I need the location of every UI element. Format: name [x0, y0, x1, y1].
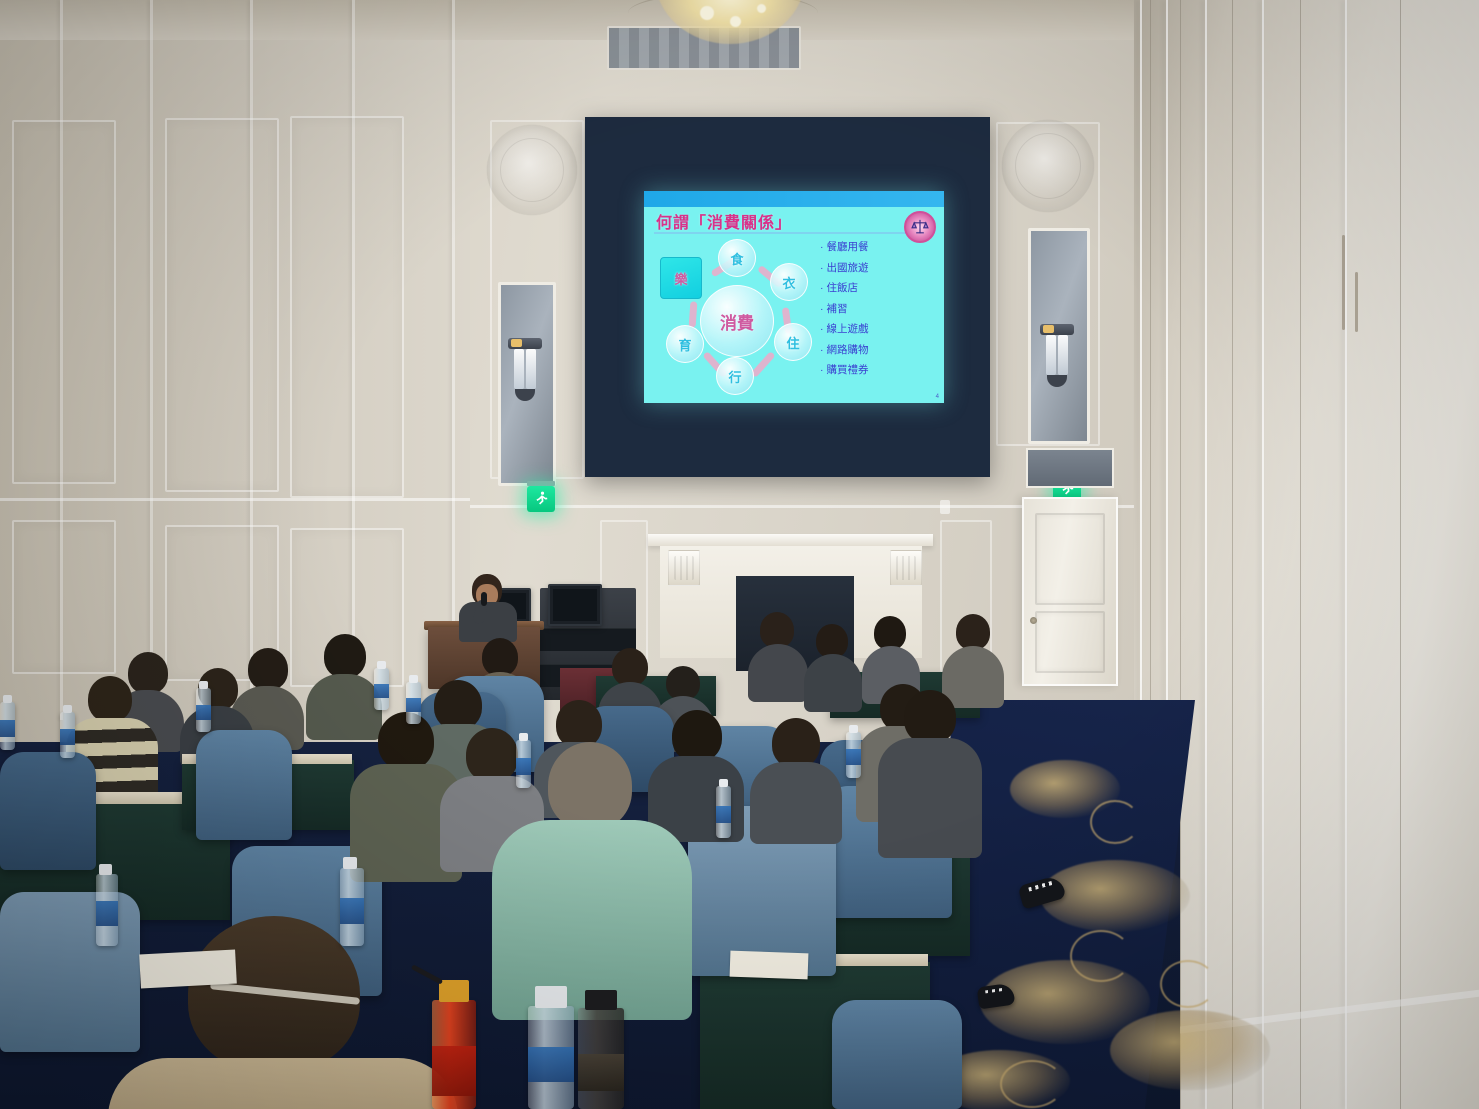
sconce-tube — [526, 349, 536, 389]
bottle-cap — [377, 661, 386, 669]
wall-sconce — [508, 338, 542, 402]
bottle-cap — [519, 733, 528, 741]
wall-pilaster — [150, 0, 153, 730]
water-bottle[interactable] — [196, 688, 211, 732]
sconce-tube — [1046, 335, 1056, 375]
diagram-node-top: 食 — [718, 239, 756, 277]
diagram-node-top-right: 衣 — [770, 263, 808, 301]
wall-pilaster — [1345, 0, 1347, 1109]
wall-pilaster — [1232, 0, 1233, 1109]
running-man-icon — [532, 490, 550, 508]
bottle-cap — [719, 779, 728, 787]
attendee-head — [956, 614, 990, 650]
attendee-head — [760, 612, 794, 648]
diagram-node-label: 樂 — [674, 269, 687, 288]
bottle-label — [432, 1046, 476, 1096]
slide-bullet-list: 餐廳用餐 出國旅遊 住飯店 補習 線上遊戲 網路購物 購買禮券 — [820, 237, 938, 381]
carpet-swirl — [1070, 930, 1132, 982]
carpet-swirl — [1160, 960, 1216, 1008]
slide-title-underline — [654, 232, 932, 234]
attendee-head — [816, 624, 848, 658]
bottle-label — [340, 898, 364, 925]
water-bottle[interactable] — [716, 786, 731, 838]
bottle-cap — [199, 681, 208, 689]
attendee-head — [666, 666, 700, 700]
notepad[interactable] — [730, 951, 809, 980]
attendee-torso — [942, 646, 1004, 708]
banquet-chair[interactable] — [0, 752, 96, 870]
ceiling — [0, 0, 1160, 40]
carpet-swirl — [1000, 1060, 1064, 1108]
attendee-head — [772, 718, 820, 768]
list-item: 網路購物 — [820, 340, 938, 361]
attendee-head — [324, 634, 366, 678]
carpet-swirl — [1090, 800, 1140, 844]
list-item: 購買禮券 — [820, 360, 938, 381]
bottle-cap — [439, 980, 469, 1002]
attendee-torso — [306, 674, 382, 740]
side-door[interactable] — [1022, 497, 1118, 686]
scales-icon — [910, 217, 930, 237]
chandelier-sparkle — [700, 6, 714, 20]
attendee-head — [248, 648, 288, 690]
diagram-link — [689, 301, 698, 327]
water-bottle[interactable] — [374, 668, 389, 710]
sconce-tube — [514, 349, 524, 389]
carpet-motif — [1110, 1010, 1270, 1090]
bottle-label — [96, 901, 118, 925]
exit-sign — [527, 486, 555, 512]
bottle-label — [374, 684, 389, 698]
attendee-head — [434, 680, 482, 730]
presentation-slide: 何謂「消費關係」 消費 — [644, 191, 944, 403]
diagram-node-label: 衣 — [782, 273, 795, 292]
mantel-shelf — [648, 534, 933, 546]
ceiling-rosette — [487, 125, 577, 215]
wall-panel — [165, 118, 279, 492]
attendee-torso — [748, 644, 808, 702]
charcoal-water-bottle[interactable] — [578, 1008, 624, 1109]
water-bottle[interactable] — [0, 702, 15, 750]
attendee-head — [548, 742, 632, 830]
wall-sconce — [1040, 324, 1074, 388]
bottle-label — [578, 1054, 624, 1090]
attendee-head — [612, 648, 648, 686]
bottle-label — [528, 1047, 574, 1082]
bottle-label — [716, 806, 731, 824]
chandelier-sparkle — [757, 4, 766, 13]
banquet-chair[interactable] — [832, 1000, 962, 1109]
bottle-label — [406, 698, 421, 712]
diagram-node-bottom: 行 — [716, 357, 754, 395]
sconce-base — [1047, 375, 1067, 387]
bottle-cap — [3, 695, 12, 703]
water-bottle[interactable] — [96, 874, 118, 946]
bottle-cap — [63, 705, 72, 713]
wainscot-molding — [0, 498, 470, 501]
door-handle[interactable] — [1342, 235, 1345, 330]
wall-panel — [290, 116, 404, 498]
water-bottle[interactable] — [340, 868, 364, 946]
slide-page-number: 4 — [936, 394, 939, 400]
list-item: 出國旅遊 — [820, 258, 938, 279]
presenter-torso — [459, 602, 517, 642]
attendee-head — [874, 616, 906, 650]
water-bottle[interactable] — [60, 712, 75, 758]
bottle-cap — [343, 857, 357, 869]
wall-pilaster — [1180, 0, 1181, 1109]
door-handle[interactable] — [1355, 272, 1358, 332]
bottle-label — [196, 705, 211, 720]
attendee-head — [466, 728, 518, 782]
wall-pilaster — [1300, 0, 1301, 1109]
list-item: 補習 — [820, 299, 938, 320]
banquet-chair[interactable] — [0, 892, 140, 1052]
seminar-room-photo: 何謂「消費關係」 消費 — [0, 0, 1479, 1109]
water-bottle[interactable] — [846, 732, 861, 778]
sconce-base — [515, 389, 535, 401]
bottle-cap — [585, 990, 617, 1010]
monitor-right — [548, 584, 602, 626]
diagram-node-label: 行 — [728, 367, 741, 386]
av-shelf — [540, 628, 636, 651]
diagram-node-label: 食 — [730, 249, 743, 268]
diagram-node-label: 住 — [786, 333, 799, 352]
attendee-head — [672, 710, 722, 762]
water-bottle[interactable] — [528, 1006, 574, 1109]
wall-pilaster — [1205, 0, 1207, 1109]
diagram-link — [750, 351, 775, 378]
consumption-diagram: 消費 食 衣 住 行 育 樂 — [652, 239, 822, 397]
bottle-cap — [409, 675, 418, 683]
ceiling-rosette — [1002, 120, 1094, 212]
attendee-torso — [878, 738, 982, 858]
bottle-label — [846, 749, 861, 765]
sconce-bulb — [511, 339, 522, 347]
sconce-tube — [1058, 335, 1068, 375]
chandelier-sparkle — [730, 16, 741, 27]
notepad[interactable] — [139, 950, 237, 989]
diagram-node-label: 育 — [678, 335, 691, 354]
bottle-cap — [535, 986, 567, 1008]
mantel-corbel — [668, 550, 700, 586]
attendee-head — [904, 690, 956, 744]
attendee-torso — [750, 762, 842, 844]
door-panel-lower — [1035, 611, 1105, 673]
wall-pilaster — [1400, 0, 1401, 1109]
diagram-center-label: 消費 — [720, 309, 754, 334]
attendee-head — [88, 676, 132, 722]
door-knob[interactable] — [1030, 617, 1037, 624]
bottle-label — [516, 758, 531, 774]
attendee-torso — [804, 654, 862, 712]
transom-window — [1026, 448, 1114, 488]
bottle-cap — [99, 864, 112, 875]
wall-panel — [12, 120, 116, 484]
diagram-node-bottom-left: 育 — [666, 325, 704, 363]
mantel-corbel — [890, 550, 922, 586]
diagram-node-highlighted: 樂 — [660, 257, 702, 299]
water-bottle[interactable] — [516, 740, 531, 788]
bottle-label — [0, 720, 15, 736]
sconce-bulb — [1043, 325, 1054, 333]
slide-title: 何謂「消費關係」 — [656, 209, 792, 233]
tea-bottle[interactable] — [432, 1000, 476, 1109]
banquet-chair[interactable] — [196, 730, 292, 840]
list-item: 餐廳用餐 — [820, 237, 938, 258]
wall-panel — [940, 500, 950, 514]
handheld-microphone — [481, 592, 487, 606]
list-item: 線上遊戲 — [820, 319, 938, 340]
slide-header-band — [644, 191, 944, 207]
attendee-head — [482, 638, 518, 676]
water-bottle[interactable] — [406, 682, 421, 724]
attendee-head — [556, 700, 602, 748]
door-panel-upper — [1035, 513, 1105, 605]
right-wall — [1134, 0, 1479, 1109]
diagram-node-bottom-right: 住 — [774, 323, 812, 361]
bottle-cap — [849, 725, 858, 733]
list-item: 住飯店 — [820, 278, 938, 299]
attendee-torso — [108, 1058, 458, 1109]
wall-panel — [12, 520, 116, 674]
wall-pilaster — [1262, 0, 1264, 1109]
attendee-head — [128, 652, 168, 694]
bottle-label — [60, 729, 75, 745]
diagram-center-node: 消費 — [700, 285, 774, 357]
